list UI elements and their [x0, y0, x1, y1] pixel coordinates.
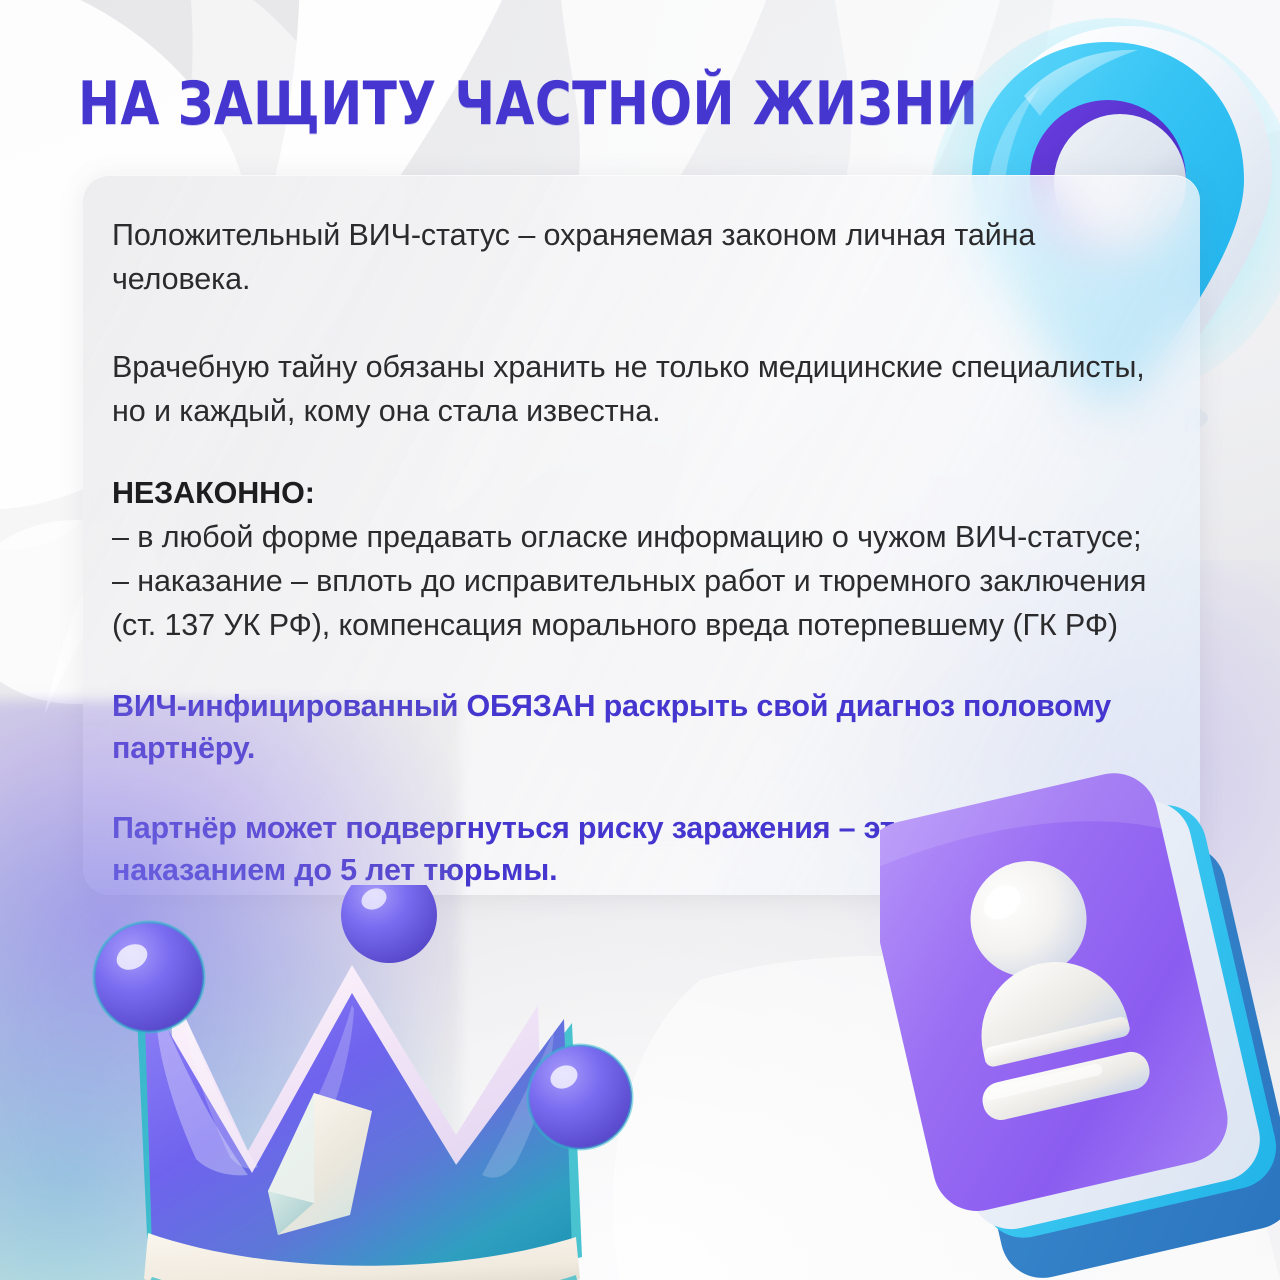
paragraph-privacy-secret: Положительный ВИЧ-статус – охраняемая за…: [112, 213, 1172, 301]
illegal-heading: НЕЗАКОННО:: [112, 471, 1172, 515]
poster-canvas: НА ЗАЩИТУ ЧАСТНОЙ ЖИЗНИ: [0, 0, 1280, 1280]
spacer: [112, 301, 1172, 345]
spacer: [112, 769, 1172, 807]
content-card: Положительный ВИЧ-статус – охраняемая за…: [83, 175, 1200, 895]
illegal-item-2: – наказание – вплоть до исправительных р…: [112, 559, 1172, 647]
illegal-item-1: – в любой форме предавать огласке информ…: [112, 515, 1172, 559]
accent-disclosure-duty: ВИЧ-инфицированный ОБЯЗАН раскрыть свой …: [112, 685, 1172, 769]
crown-icon: [52, 885, 652, 1280]
accent-partner-risk: Партнёр может подвергнуться риску зараже…: [112, 807, 1172, 891]
spacer: [112, 433, 1172, 471]
spacer: [112, 647, 1172, 685]
paragraph-medical-secrecy: Врачебную тайну обязаны хранить не тольк…: [112, 345, 1172, 433]
page-title: НА ЗАЩИТУ ЧАСТНОЙ ЖИЗНИ: [78, 72, 978, 136]
